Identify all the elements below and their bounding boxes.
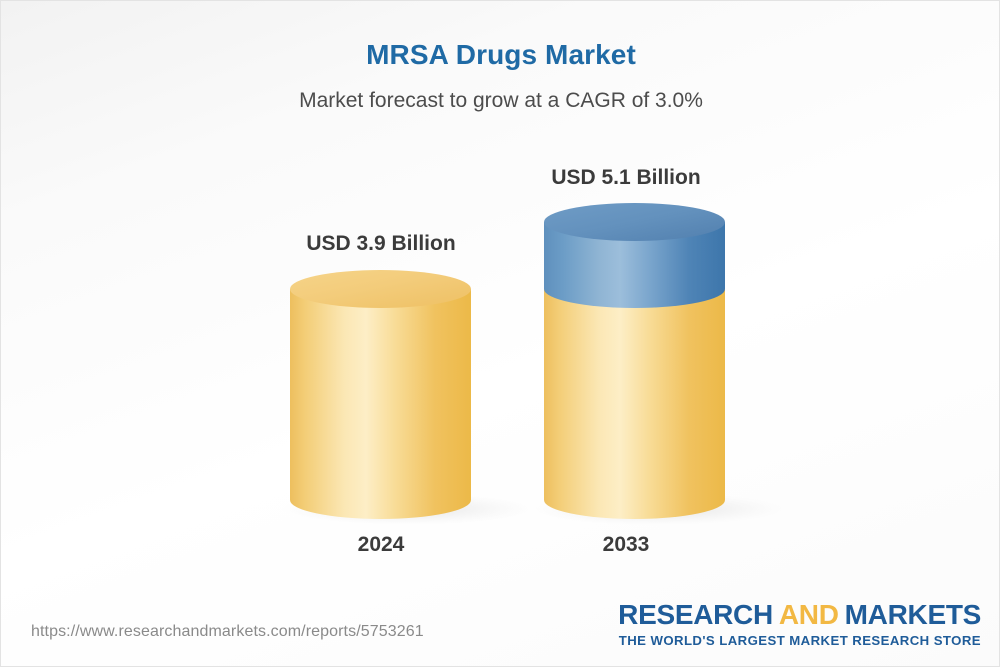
cylinder-bars-svg <box>1 1 1000 601</box>
bar-body-base-2033 <box>544 289 725 519</box>
category-label-2024: 2024 <box>251 533 511 557</box>
bar-top-cap-2033 <box>544 203 725 241</box>
value-label-2024: USD 3.9 Billion <box>251 232 511 256</box>
category-label-2033: 2033 <box>496 533 756 557</box>
bar-body-2024 <box>290 289 471 519</box>
brand-wordmark: RESEARCHANDMARKETS <box>618 601 981 629</box>
brand-logo[interactable]: RESEARCHANDMARKETS THE WORLD'S LARGEST M… <box>618 601 981 647</box>
source-url[interactable]: https://www.researchandmarkets.com/repor… <box>31 623 424 641</box>
brand-word-markets: MARKETS <box>845 599 981 630</box>
infographic-canvas: MRSA Drugs Market Market forecast to gro… <box>0 0 1000 667</box>
chart-plot-area: USD 3.9 Billion USD 5.1 Billion 2024 203… <box>1 1 1000 601</box>
brand-tagline: THE WORLD'S LARGEST MARKET RESEARCH STOR… <box>618 634 981 647</box>
value-label-2033: USD 5.1 Billion <box>496 166 756 190</box>
bar-top-cap-2024 <box>290 270 471 308</box>
bar-cylinder-2024 <box>290 270 471 519</box>
bar-cylinder-2033 <box>544 203 725 519</box>
brand-word-and: AND <box>779 599 839 630</box>
brand-word-research: RESEARCH <box>618 599 773 630</box>
